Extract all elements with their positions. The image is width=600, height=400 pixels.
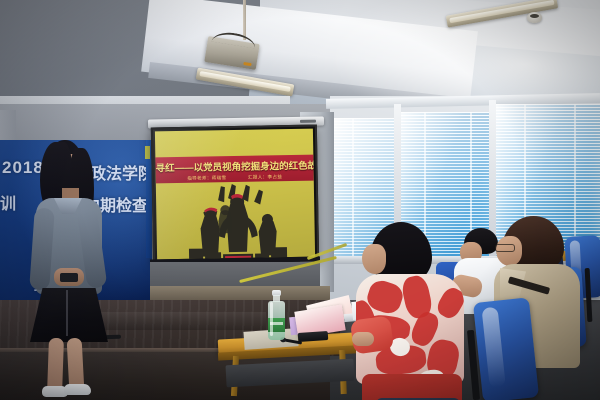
glasses-icon bbox=[495, 244, 515, 252]
screen-brand-logo bbox=[300, 120, 316, 123]
classroom-presentation-photo: 2018 上海政法学院 训 项目中期检查 委 年 四月 寻红——以党员视角挖掘身… bbox=[0, 0, 600, 400]
slide-woodcut-artwork bbox=[174, 181, 301, 260]
banner-edge-marker bbox=[145, 146, 150, 159]
projector-mount-rod bbox=[243, 0, 246, 40]
attendee-hand bbox=[352, 332, 374, 346]
presenter-skirt-zipper bbox=[66, 290, 68, 336]
presenter-shoe-right bbox=[64, 384, 91, 395]
smoke-detector-icon bbox=[527, 12, 542, 23]
projection-screen: 寻红——以党员视角挖掘身边的红色故事 指导老师：蒋瑞雪 汇报人：李占益 bbox=[151, 125, 319, 264]
presentation-slide: 寻红——以党员视角挖掘身边的红色故事 指导老师：蒋瑞雪 汇报人：李占益 bbox=[155, 129, 315, 260]
slide-credit-presenter: 汇报人：李占益 bbox=[248, 174, 282, 180]
attendee-face bbox=[362, 244, 386, 274]
projector-badge bbox=[243, 62, 251, 66]
presenter-skirt bbox=[30, 288, 108, 342]
water-bottle-front bbox=[268, 290, 285, 340]
presenter bbox=[18, 140, 128, 395]
banner-line-training: 训 bbox=[0, 190, 16, 214]
attendee-red-patterned-top bbox=[352, 222, 480, 400]
slide-credit-advisor: 指导老师：蒋瑞雪 bbox=[187, 175, 226, 181]
chair bbox=[473, 297, 539, 400]
bottle-highlight bbox=[270, 302, 273, 336]
slide-title: 寻红——以党员视角挖掘身边的红色故事 bbox=[155, 158, 313, 175]
presenter-clicker bbox=[60, 273, 78, 282]
attendee-lower-garment bbox=[362, 374, 462, 400]
